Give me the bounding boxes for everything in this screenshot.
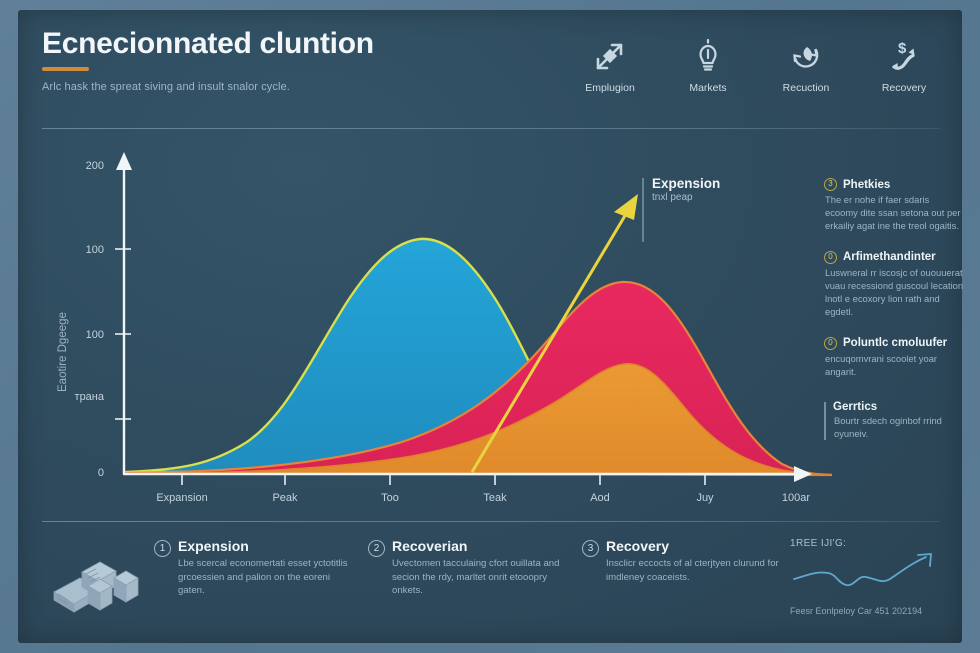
svg-text:Too: Too [381,492,399,504]
header-icon-markets[interactable]: Markets [672,34,744,94]
footer-item-recoverian[interactable]: 2 Recoverian Uvectomen tacculaing cfort … [368,538,568,598]
footer-item-number: 3 [582,540,599,557]
annotation-body: The er nohe if faer sdaris ecoomy dite s… [824,194,964,233]
annotation-title: Poluntlc cmoluufer [843,337,947,349]
main-panel: Ecnecionnated cluntion Arlc hask the spr… [18,10,962,643]
annotation-item[interactable]: 3 Phetkies The er nohe if faer sdaris ec… [824,178,964,233]
svg-text:100: 100 [86,244,104,256]
x-axis: Expansion Peak Too Teak Aod Juy 100ar [156,474,810,504]
header-icon-label: Recovery [868,82,940,94]
annotation-head: 3 Phetkies [824,178,964,191]
annotation-list: 3 Phetkies The er nohe if faer sdaris ec… [824,178,964,459]
footer-divider [42,521,940,522]
footer-item-title: Expension [178,538,354,554]
header-icon-emplugion[interactable]: Emplugion [574,34,646,94]
sparkline-caption: Feesr Eonlpeloy Car 451 202194 [790,606,960,616]
footer-item-body: Lbe scercal economertati esset yctotitli… [178,557,354,598]
x-axis-arrowhead [794,466,812,482]
sparkline-label: 1REE IJI'G: [790,538,960,549]
annotation-head: 0 Poluntlc cmoluufer [824,337,964,350]
annotation-head: 0 Arfimethandinter [824,251,964,264]
callout-rule [642,178,644,242]
leaf-recycle-icon [770,34,842,78]
isometric-buildings-icon [42,538,154,620]
header-icon-label: Markets [672,82,744,94]
svg-text:Peak: Peak [272,492,298,504]
y-axis-arrowhead [116,152,132,170]
footer-item-number: 2 [368,540,385,557]
title-underline [42,67,89,71]
annotation-body: Luswneral rr iscosjc of ououuerat vuau r… [824,267,964,319]
annotation-title: Arfimethandinter [843,251,936,263]
svg-text:Aod: Aod [590,492,610,504]
footer-item-expansion[interactable]: 1 Expension Lbe scercal economertati ess… [154,538,354,598]
annotation-badge: 3 [824,178,837,191]
footer-item-recovery[interactable]: 3 Recovery Insclicr eccocts of al cterjt… [582,538,782,598]
annotation-item[interactable]: Gerrtics Bourtr sdech oginbof rrind oyun… [824,401,964,441]
svg-text:100ar: 100ar [782,492,810,504]
svg-text:трана: трана [75,391,105,403]
header: Ecnecionnated cluntion Arlc hask the spr… [42,28,942,124]
annotation-badge: 0 [824,337,837,350]
chart-series [124,239,832,475]
y-axis: 200 100 100 трана 0 Eaotire Dgeege [57,160,131,479]
sparkline-chart [790,551,958,597]
footer-item-title: Recoverian [392,538,568,554]
footer-item-body: Uvectomen tacculaing cfort ouillata and … [392,557,568,598]
annotation-title: Phetkies [843,179,890,191]
annotation-item[interactable]: 0 Poluntlc cmoluufer encuqomvrani scoole… [824,337,964,379]
annotation-badge: 0 [824,251,837,264]
footer-item-title: Recovery [606,538,782,554]
svg-text:0: 0 [98,467,104,479]
svg-text:Teak: Teak [483,492,507,504]
svg-text:100: 100 [86,329,104,341]
svg-text:Eaotire Dgeege: Eaotire Dgeege [57,312,69,392]
dollar-arrow-icon: $ [868,34,940,78]
header-icon-label: Emplugion [574,82,646,94]
footer-sparkline-panel: 1REE IJI'G: Feesr Eonlpeloy Car 451 2021… [782,538,960,616]
callout-title: Expension [652,176,812,191]
svg-text:Expansion: Expansion [156,492,207,504]
lightbulb-icon [672,34,744,78]
footer-item-number: 1 [154,540,171,557]
annotation-body: Bourtr sdech oginbof rrind oyuneiv. [833,415,964,441]
growth-arrow-icon [574,34,646,78]
footer-items: 1 Expension Lbe scercal economertati ess… [154,538,782,598]
header-icon-recuction[interactable]: Recuction [770,34,842,94]
header-icon-recovery[interactable]: $ Recovery [868,34,940,94]
footer-item-body: Insclicr eccocts of al cterjtyen clurund… [606,557,782,584]
svg-text:$: $ [898,40,907,57]
header-divider [42,128,940,129]
header-icon-strip: Emplugion [574,34,940,94]
footer-section: 1 Expension Lbe scercal economertati ess… [42,538,940,636]
callout-subtitle: tnxl peap [652,192,812,203]
chart-callout: Expension tnxl peap [652,176,812,203]
annotation-body: encuqomvrani scoolet yoar angarit. [824,353,964,379]
header-icon-label: Recuction [770,82,842,94]
annotation-title: Gerrtics [833,401,964,413]
svg-text:200: 200 [86,160,104,172]
annotation-item[interactable]: 0 Arfimethandinter Luswneral rr iscosjc … [824,251,964,319]
infographic-poster: Ecnecionnated cluntion Arlc hask the spr… [0,0,980,653]
svg-text:Juy: Juy [696,492,714,504]
